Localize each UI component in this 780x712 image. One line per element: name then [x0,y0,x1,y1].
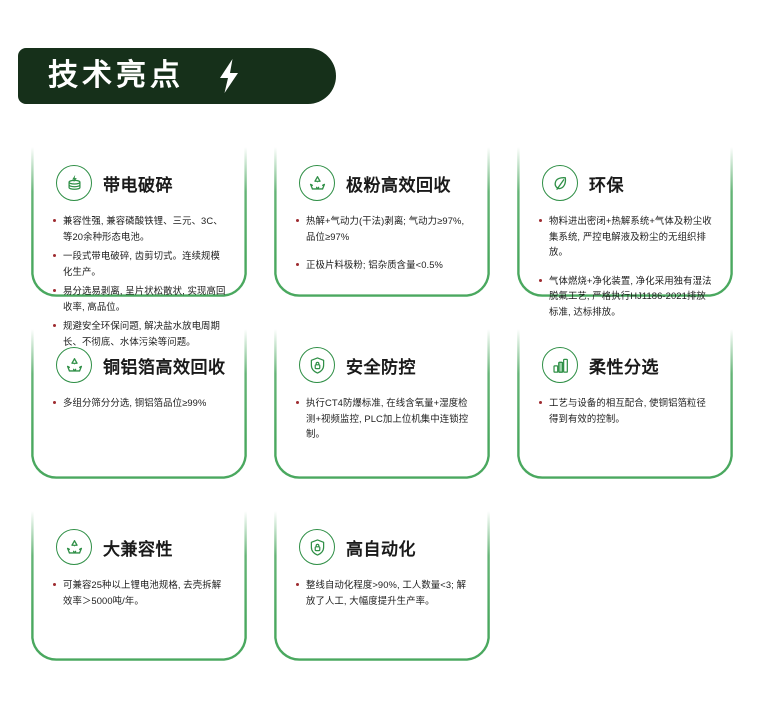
card-bullet-list: 热解+气动力(干法)剥离; 气动力≥97%, 品位≥97%正极片料极粉; 铝杂质… [287,213,477,273]
card-title: 安全防控 [346,353,416,378]
card-bullet-item: 多组分筛分分选, 铜铝箔品位≥99% [52,395,228,411]
card-head: 极粉高效回收 [299,165,477,201]
leaf-icon [542,165,578,201]
card-title: 铜铝箔高效回收 [103,353,226,378]
bar-chart-icon [542,347,578,383]
card-bullet-item: 正极片料极粉; 铝杂质含量<0.5% [295,257,471,273]
card-head: 高自动化 [299,529,477,565]
card-head: 安全防控 [299,347,477,383]
card-title: 环保 [589,171,624,196]
card-title: 高自动化 [346,535,416,560]
feature-card: 高自动化整线自动化程度>90%, 工人数量<3; 解放了人工, 大幅度提升生产率… [273,507,491,662]
card-bullet-list: 整线自动化程度>90%, 工人数量<3; 解放了人工, 大幅度提升生产率。 [287,577,477,608]
card-bullet-item: 一段式带电破碎, 齿剪切式。连续规模化生产。 [52,248,228,279]
page-title: 技术亮点 [48,61,184,91]
card-title: 带电破碎 [103,171,173,196]
card-bullet-item: 物料进出密闭+热解系统+气体及粉尘收集系统, 严控电解液及粉尘的无组织排放。 [538,213,714,260]
card-bullet-item: 可兼容25种以上锂电池规格, 去壳拆解效率＞5000吨/年。 [52,577,228,608]
feature-card: 大兼容性可兼容25种以上锂电池规格, 去壳拆解效率＞5000吨/年。 [30,507,248,662]
header-banner: 技术亮点 [18,48,336,104]
card-title: 柔性分选 [589,353,659,378]
card-bullet-item: 执行CT4防爆标准, 在线含氧量+湿度检测+视频监控, PLC加上位机集中连锁控… [295,395,471,442]
card-bullet-list: 可兼容25种以上锂电池规格, 去壳拆解效率＞5000吨/年。 [44,577,234,608]
card-bullet-list: 工艺与设备的相互配合, 使铜铝箔粒径得到有效的控制。 [530,395,720,426]
card-head: 带电破碎 [56,165,234,201]
card-bullet-item: 气体燃烧+净化装置, 净化采用独有湿法脱氟工艺, 严格执行HJ1186-2021… [538,273,714,320]
shield-lock-icon [299,347,335,383]
card-head: 柔性分选 [542,347,720,383]
recycle-icon [56,347,92,383]
card-bullet-list: 执行CT4防爆标准, 在线含氧量+湿度检测+视频监控, PLC加上位机集中连锁控… [287,395,477,442]
feature-card: 柔性分选工艺与设备的相互配合, 使铜铝箔粒径得到有效的控制。 [516,325,734,480]
card-head: 大兼容性 [56,529,234,565]
card-title: 大兼容性 [103,535,173,560]
card-bullet-item: 易分选易剥离, 呈片状松散状, 实现高回收率, 高品位。 [52,283,228,314]
card-bullet-item: 整线自动化程度>90%, 工人数量<3; 解放了人工, 大幅度提升生产率。 [295,577,471,608]
feature-card: 铜铝箔高效回收多组分筛分分选, 铜铝箔品位≥99% [30,325,248,480]
card-bullet-item: 热解+气动力(干法)剥离; 气动力≥97%, 品位≥97% [295,213,471,244]
card-bullet-list: 多组分筛分分选, 铜铝箔品位≥99% [44,395,234,411]
card-bullet-list: 物料进出密闭+热解系统+气体及粉尘收集系统, 严控电解液及粉尘的无组织排放。气体… [530,213,720,319]
feature-card: 安全防控执行CT4防爆标准, 在线含氧量+湿度检测+视频监控, PLC加上位机集… [273,325,491,480]
recycle-icon [299,165,335,201]
card-head: 铜铝箔高效回收 [56,347,234,383]
card-bullet-item: 兼容性强, 兼容磷酸铁锂、三元、3C、等20余种形态电池。 [52,213,228,244]
feature-card: 极粉高效回收热解+气动力(干法)剥离; 气动力≥97%, 品位≥97%正极片料极… [273,143,491,298]
card-title: 极粉高效回收 [346,171,451,196]
feature-card: 环保物料进出密闭+热解系统+气体及粉尘收集系统, 严控电解液及粉尘的无组织排放。… [516,143,734,298]
battery-bolt-icon [56,165,92,201]
card-head: 环保 [542,165,720,201]
feature-card: 带电破碎兼容性强, 兼容磷酸铁锂、三元、3C、等20余种形态电池。一段式带电破碎… [30,143,248,298]
recycle-icon [56,529,92,565]
feature-cards-grid: 带电破碎兼容性强, 兼容磷酸铁锂、三元、3C、等20余种形态电池。一段式带电破碎… [30,143,758,689]
card-bullet-item: 工艺与设备的相互配合, 使铜铝箔粒径得到有效的控制。 [538,395,714,426]
shield-lock-icon [299,529,335,565]
lightning-bolt-icon [218,59,240,93]
